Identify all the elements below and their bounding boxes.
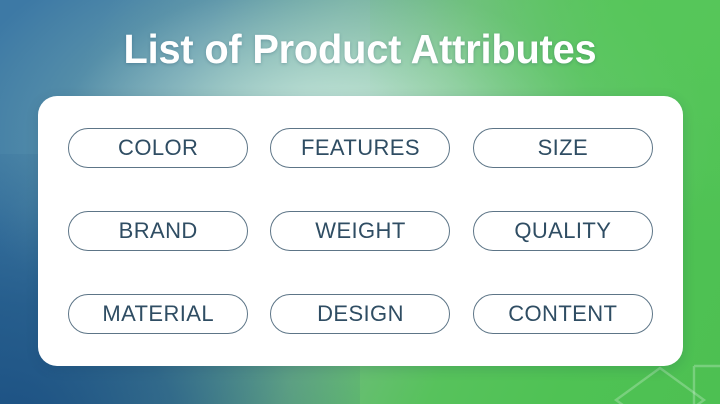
attribute-pill-content[interactable]: CONTENT <box>473 294 653 334</box>
attribute-pill-size[interactable]: SIZE <box>473 128 653 168</box>
attributes-grid: COLOR FEATURES SIZE BRAND WEIGHT QUALITY… <box>60 117 661 345</box>
attribute-pill-features[interactable]: FEATURES <box>270 128 450 168</box>
attribute-pill-weight[interactable]: WEIGHT <box>270 211 450 251</box>
diamond-outline-icon <box>612 366 708 404</box>
page-title: List of Product Attributes <box>11 24 709 74</box>
attribute-pill-design[interactable]: DESIGN <box>270 294 450 334</box>
attribute-pill-brand[interactable]: BRAND <box>68 211 248 251</box>
diamond-outline-partial-icon <box>688 364 720 404</box>
attribute-pill-material[interactable]: MATERIAL <box>68 294 248 334</box>
attribute-pill-quality[interactable]: QUALITY <box>473 211 653 251</box>
slide-canvas: List of Product Attributes COLOR FEATURE… <box>0 0 720 404</box>
attributes-card: COLOR FEATURES SIZE BRAND WEIGHT QUALITY… <box>38 96 683 366</box>
attribute-pill-color[interactable]: COLOR <box>68 128 248 168</box>
